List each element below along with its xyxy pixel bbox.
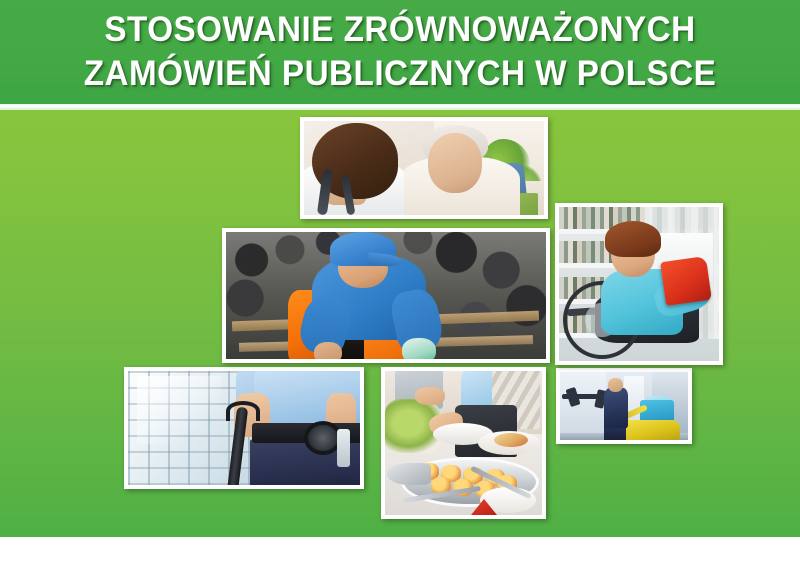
worker-hand (314, 342, 342, 359)
photo-catering (381, 367, 546, 519)
food-portion (494, 433, 528, 447)
floor-scrubber-machine (624, 420, 680, 440)
photo-paving-worker-canvas (226, 232, 546, 359)
serving-spoon (387, 463, 431, 485)
title-line-1: STOSOWANIE ZRÓWNOWAŻONYCH (20, 8, 780, 48)
window-glare (137, 376, 221, 444)
header-divider-line (0, 104, 800, 110)
woman-hair (605, 221, 661, 257)
presentation-slide: STOSOWANIE ZRÓWNOWAŻONYCH ZAMÓWIEŃ PUBLI… (0, 0, 800, 537)
photo-cleaning-service (556, 368, 692, 444)
photo-catering-canvas (385, 371, 542, 515)
red-book (660, 256, 712, 306)
cleaner-head (608, 378, 623, 392)
photo-library-wheelchair (555, 203, 723, 365)
photo-elderly-care-canvas (304, 121, 544, 215)
work-glove (402, 338, 436, 359)
photo-security-guard-canvas (128, 371, 360, 485)
photo-paving-worker (222, 228, 550, 363)
photo-security-guard (124, 367, 364, 489)
page-footer-area (0, 537, 800, 581)
elderly-woman-head (428, 133, 482, 193)
spray-canister (337, 429, 350, 467)
photo-library-wheelchair-canvas (559, 207, 719, 361)
title-line-2: ZAMÓWIEŃ PUBLICZNYCH W POLSCE (20, 48, 780, 92)
photo-cleaning-service-canvas (560, 372, 688, 440)
photo-elderly-care (300, 117, 548, 219)
guest-hand (415, 387, 445, 405)
page-title: STOSOWANIE ZRÓWNOWAŻONYCH ZAMÓWIEŃ PUBLI… (0, 8, 800, 91)
cleaner-uniform (604, 388, 628, 428)
